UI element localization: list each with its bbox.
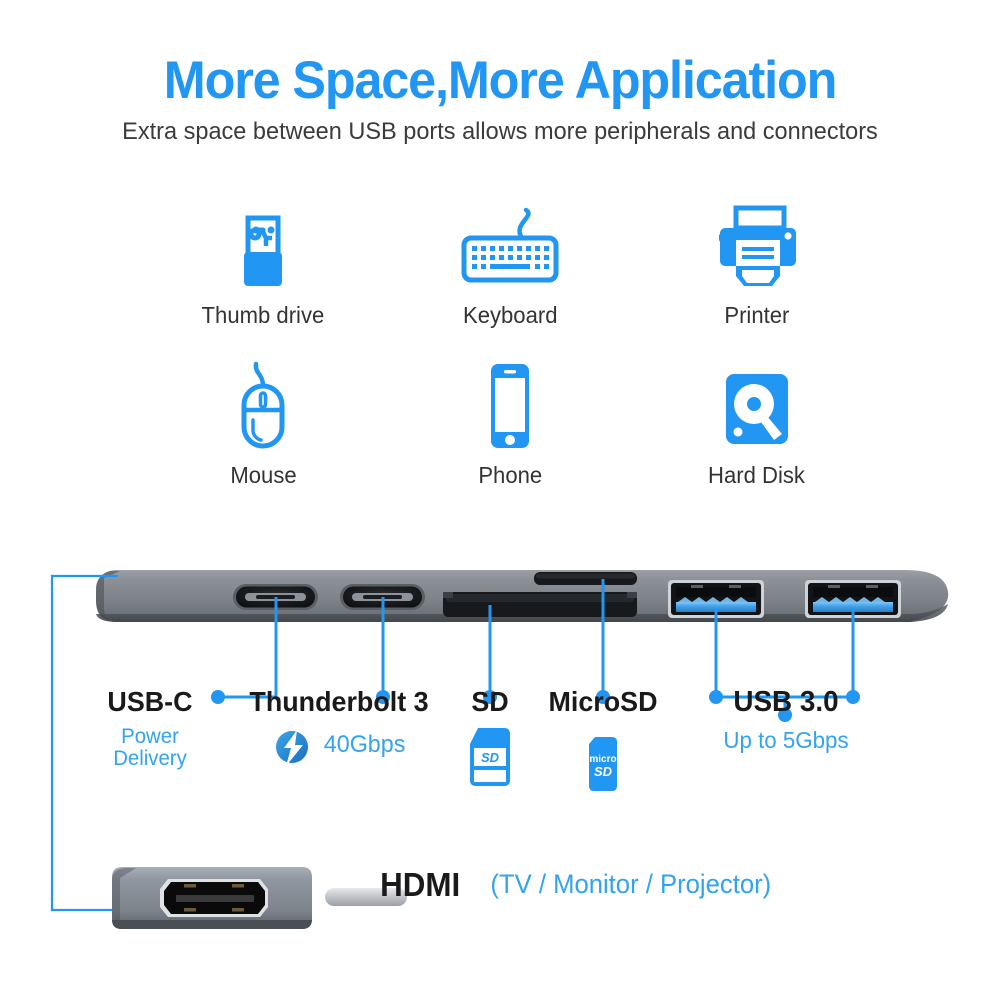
peripheral-item-keyboard: Keyboard [387, 200, 634, 360]
svg-text:SD: SD [594, 764, 613, 779]
hard-disk-icon [718, 360, 796, 452]
port-label-sd: SD [450, 686, 531, 718]
svg-text:SD: SD [481, 750, 500, 765]
sd-card-slot [443, 592, 637, 617]
microsd-card-icon: micro SD [581, 736, 625, 792]
port-sub-usb-c-line2: Delivery [102, 748, 199, 770]
port-sub-usb30: Up to 5Gbps [703, 728, 870, 752]
port-sub-thunderbolt: 40Gbps [324, 732, 440, 757]
peripheral-label: Thumb drive [202, 302, 325, 329]
peripheral-item-printer: Printer [633, 200, 880, 360]
keyboard-icon [450, 200, 570, 292]
port-label-thunderbolt: Thunderbolt 3 [232, 686, 445, 718]
port-sub-hdmi: (TV / Monitor / Projector) [490, 869, 771, 900]
microsd-card-slot [534, 572, 637, 585]
port-label-hdmi: HDMI [380, 866, 460, 904]
peripheral-label: Mouse [230, 462, 296, 489]
usb-thumb-drive-icon [228, 200, 298, 292]
peripheral-label: Keyboard [463, 302, 558, 329]
port-label-usb-c: USB-C [102, 686, 198, 718]
peripheral-label: Printer [724, 302, 789, 329]
peripheral-icon-grid: Thumb drive [140, 200, 880, 520]
peripheral-item-mouse: Mouse [140, 360, 387, 520]
peripheral-label: Phone [478, 462, 542, 489]
mouse-icon [231, 360, 295, 452]
page-subtitle: Extra space between USB ports allows mor… [20, 118, 980, 146]
peripheral-item-hard-disk: Hard Disk [633, 360, 880, 520]
port-sub-usb-c-line1: Power [102, 726, 199, 748]
peripheral-item-thumb-drive: Thumb drive [140, 200, 387, 360]
sd-card-icon: SD [466, 726, 514, 788]
thunderbolt-bolt-icon [272, 727, 314, 769]
port-label-usb30: USB 3.0 [703, 686, 868, 719]
hub-diagram [0, 500, 1000, 700]
printer-icon [712, 200, 802, 292]
phone-icon [481, 360, 539, 452]
peripheral-label: Hard Disk [708, 462, 805, 489]
page-title: More Space,More Application [25, 52, 975, 110]
hdmi-module [112, 867, 407, 929]
peripheral-item-phone: Phone [387, 360, 634, 520]
port-label-microsd: MicroSD [531, 686, 675, 718]
